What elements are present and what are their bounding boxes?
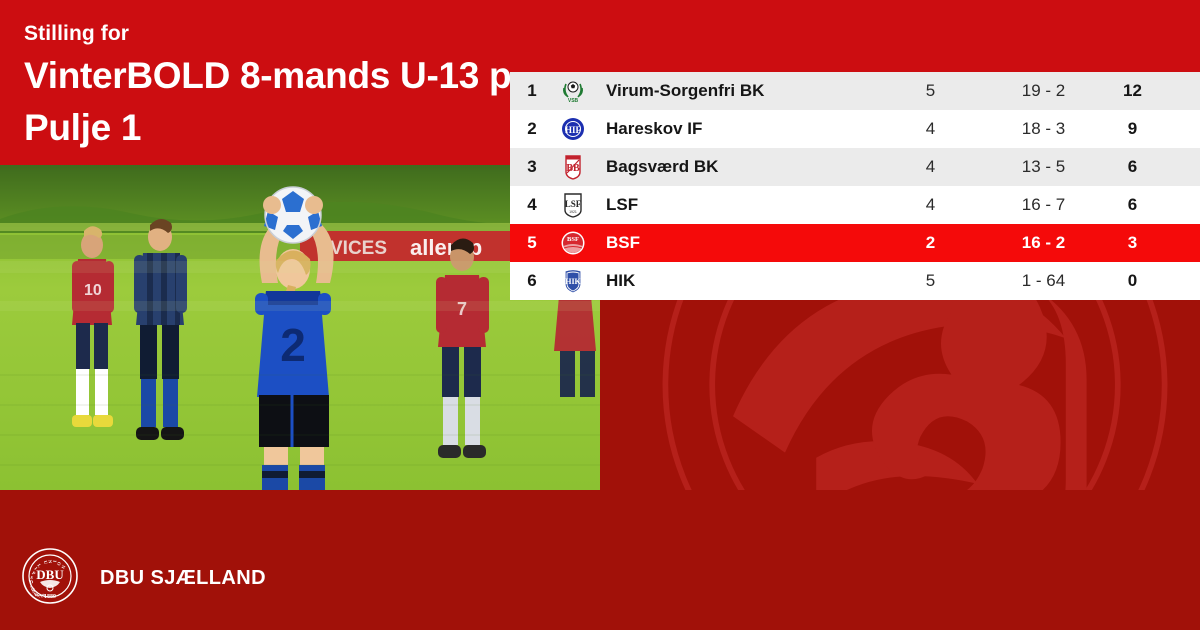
row-points: 6: [1119, 195, 1146, 215]
row-position: 4: [510, 195, 554, 215]
bagsvaerd-crest-icon: BB: [554, 154, 592, 180]
row-matches: 4: [917, 119, 944, 139]
svg-text:DBU: DBU: [36, 567, 64, 582]
table-row[interactable]: 3 BB Bagsværd BK 4 13 - 5 6: [510, 148, 1200, 186]
svg-text:LSF: LSF: [565, 199, 582, 209]
row-position: 6: [510, 271, 554, 291]
page-title: VinterBOLD 8-mands U-13 pi. Pulje 1: [24, 50, 524, 154]
row-points: 6: [1119, 157, 1146, 177]
row-matches: 4: [917, 157, 944, 177]
svg-text:VSB: VSB: [568, 98, 579, 104]
table-header: K Score P: [510, 33, 1200, 72]
row-points: 0: [1119, 271, 1146, 291]
row-matches: 2: [917, 233, 944, 253]
row-position: 3: [510, 157, 554, 177]
row-position: 1: [510, 81, 554, 101]
eyebrow-label: Stilling for: [24, 22, 129, 46]
table-row[interactable]: 4 LSF 1921 LSF 4 16 - 7 6: [510, 186, 1200, 224]
standings-table: 1 VSB Virum-Sorgenfri BK 5 19 - 2 12: [510, 72, 1200, 300]
svg-text:2: 2: [280, 319, 306, 371]
row-score: 1 - 64: [1008, 271, 1079, 291]
table-row[interactable]: 6 HIK HIK 5 1 - 64 0: [510, 262, 1200, 300]
row-team-name: LSF: [592, 195, 1200, 215]
footer-brand-label: DBU SJÆLLAND: [100, 567, 266, 590]
svg-text:BSF: BSF: [567, 236, 579, 243]
table-row[interactable]: 2 HIF Hareskov IF 4 18 - 3 9: [510, 110, 1200, 148]
row-matches: 4: [917, 195, 944, 215]
row-points: 12: [1119, 81, 1146, 101]
svg-text:N: N: [47, 560, 52, 565]
bsf-crest-icon: BSF: [554, 230, 592, 256]
svg-text:1889: 1889: [44, 594, 56, 600]
svg-text:BB: BB: [566, 163, 580, 174]
svg-text:10: 10: [84, 282, 102, 299]
hik-crest-icon: HIK: [554, 268, 592, 294]
row-points: 3: [1119, 233, 1146, 253]
page-title-line1: VinterBOLD 8-mands U-13 pi.: [24, 55, 531, 96]
table-row-highlighted[interactable]: 5 BSF BSF 2 16 - 2 3: [510, 224, 1200, 262]
row-team-name: Virum-Sorgenfri BK: [592, 81, 1200, 101]
svg-text:HIF: HIF: [565, 125, 582, 135]
row-position: 5: [510, 233, 554, 253]
row-points: 9: [1119, 119, 1146, 139]
svg-text:VICES: VICES: [330, 238, 387, 259]
row-score: 16 - 7: [1008, 195, 1079, 215]
dbu-seal-logo: D A N S K B O L D S P I L U N I O: [22, 548, 78, 609]
svg-text:HIK: HIK: [565, 277, 581, 286]
standings-graphic: D A N T E D: [0, 0, 1200, 630]
row-score: 16 - 2: [1008, 233, 1079, 253]
svg-text:O: O: [56, 561, 62, 566]
row-score: 19 - 2: [1008, 81, 1079, 101]
row-matches: 5: [917, 271, 944, 291]
hareskov-crest-icon: HIF: [554, 116, 592, 142]
row-matches: 5: [917, 81, 944, 101]
table-row[interactable]: 1 VSB Virum-Sorgenfri BK 5 19 - 2 12: [510, 72, 1200, 110]
row-team-name: Hareskov IF: [592, 119, 1200, 139]
row-position: 2: [510, 119, 554, 139]
vsb-crest-icon: VSB: [554, 78, 592, 104]
row-team-name: Bagsværd BK: [592, 157, 1200, 177]
lsf-crest-icon: LSF 1921: [554, 192, 592, 218]
page-title-line2: Pulje 1: [24, 102, 524, 154]
row-team-name: HIK: [592, 271, 1200, 291]
row-score: 13 - 5: [1008, 157, 1079, 177]
row-score: 18 - 3: [1008, 119, 1079, 139]
row-team-name: BSF: [592, 233, 1200, 253]
footer-brand: D A N S K B O L D S P I L U N I O: [22, 548, 266, 609]
svg-text:1921: 1921: [569, 210, 577, 214]
